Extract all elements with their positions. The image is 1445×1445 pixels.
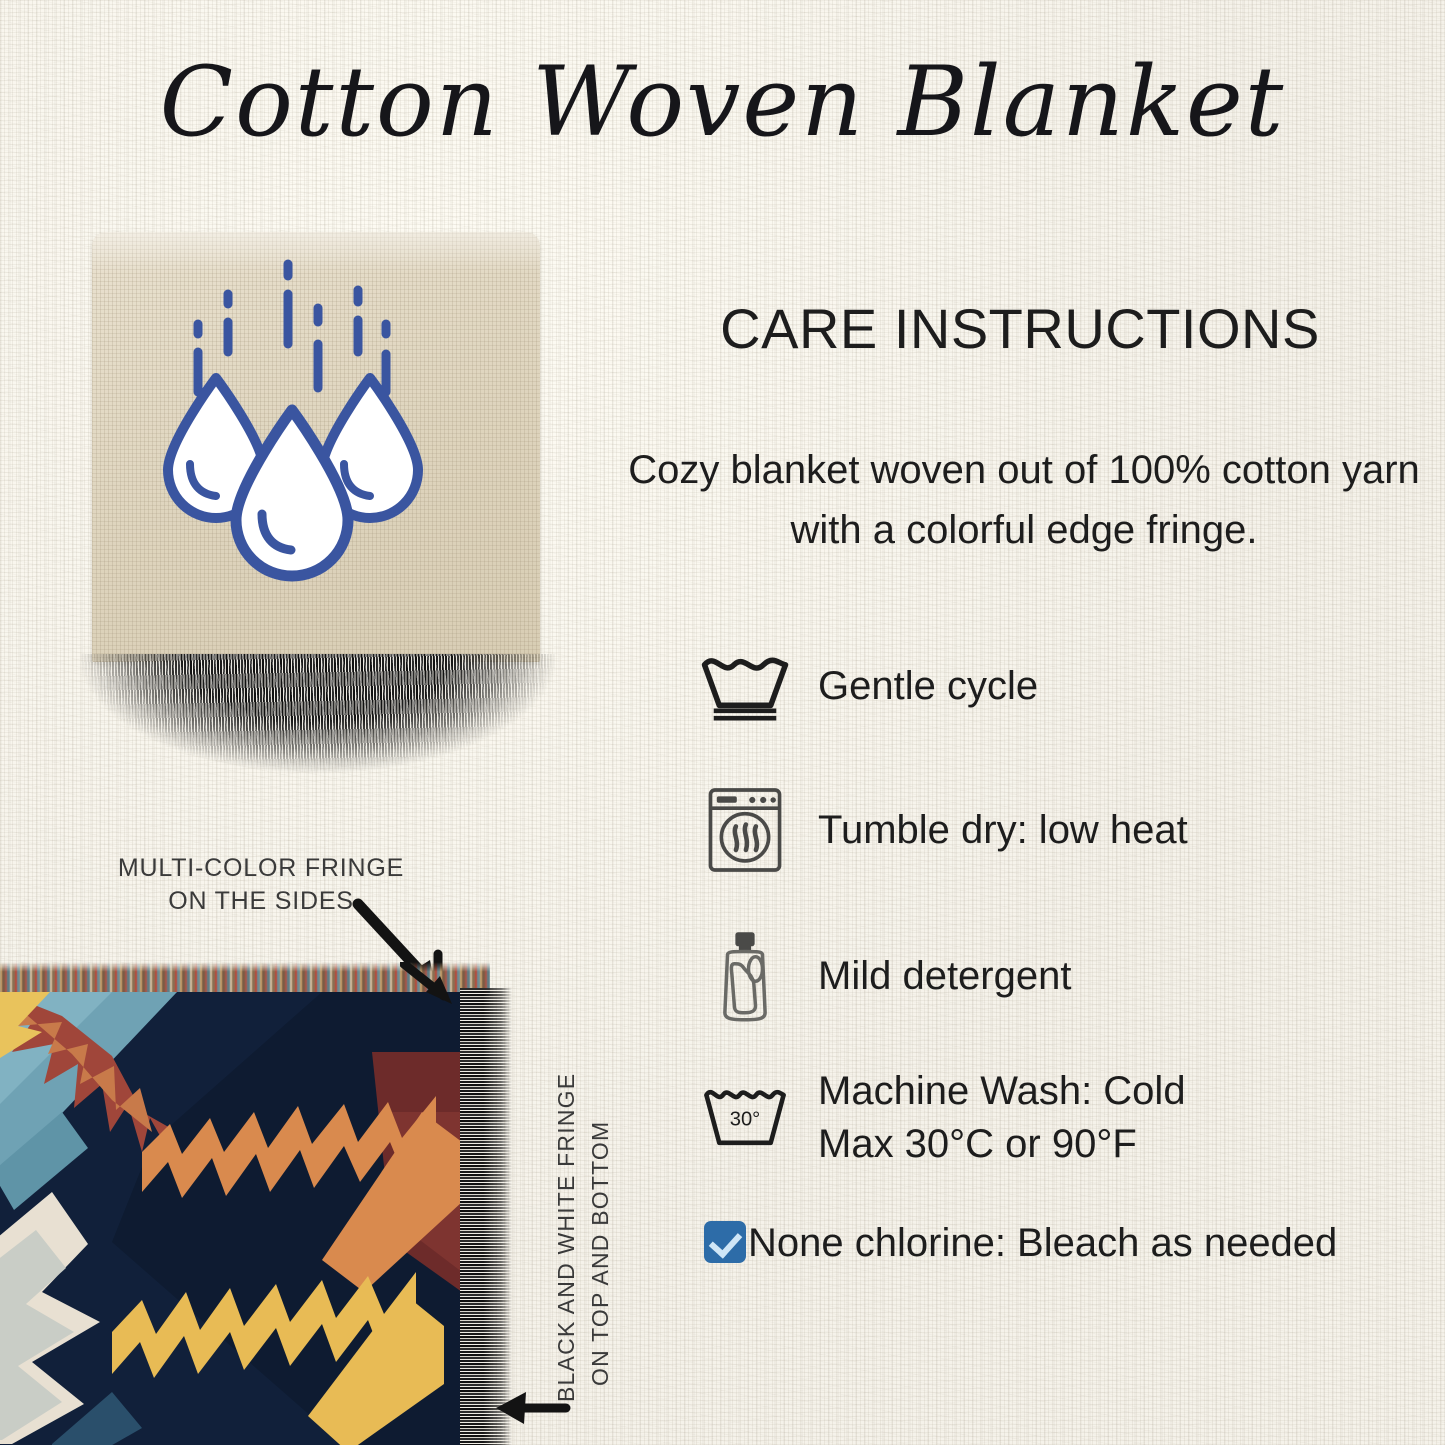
care-item-gentle-cycle: Gentle cycle <box>690 630 1390 742</box>
care-instruction-list: Gentle cycle Tumble dry: low heat <box>690 630 1390 1272</box>
annotation-bw-fringe: BLACK AND WHITE FRINGE ON TOP AND BOTTOM <box>525 1030 625 1410</box>
care-item-bleach-label: None chlorine: Bleach as needed <box>748 1221 1337 1265</box>
product-care-infographic: Cotton Woven Blanket <box>0 0 1445 1445</box>
wash-temperature-label: 30° <box>730 1108 761 1130</box>
blue-check-box-icon[interactable] <box>704 1221 746 1263</box>
care-item-label-line1: Machine Wash: Cold <box>818 1065 1186 1118</box>
care-item-label-line2: Max 30°C or 90°F <box>818 1118 1186 1171</box>
annotation-bw-line1: BLACK AND WHITE FRINGE <box>553 1073 580 1402</box>
care-item-mild-detergent: Mild detergent <box>690 920 1390 1032</box>
arrow-down-right-rug-icon <box>400 962 460 1010</box>
blanket-black-white-fringe <box>80 654 556 784</box>
blanket-product-photo <box>62 232 570 812</box>
care-item-label: Gentle cycle <box>800 660 1038 713</box>
tumble-dryer-icon <box>690 784 800 876</box>
detergent-bottle-icon <box>690 928 800 1024</box>
care-item-bleach: None chlorine: Bleach as needed <box>690 1214 1390 1272</box>
care-item-machine-wash-cold: 30° Machine Wash: Cold Max 30°C or 90°F <box>690 1062 1390 1174</box>
page-title: Cotton Woven Blanket <box>0 52 1445 153</box>
annotation-bw-line2: ON TOP AND BOTTOM <box>587 1121 614 1386</box>
care-instructions-heading: CARE INSTRUCTIONS <box>620 296 1420 361</box>
care-item-label: Mild detergent <box>800 950 1071 1003</box>
aztec-rug-photo <box>0 962 520 1445</box>
southwestern-pattern-svg <box>0 992 462 1445</box>
annotation-multicolor-line1: MULTI-COLOR FRINGE <box>96 852 426 885</box>
wash-tub-30-degrees-icon: 30° <box>690 1084 800 1152</box>
care-item-tumble-dry: Tumble dry: low heat <box>690 774 1390 886</box>
product-description: Cozy blanket woven out of 100% cotton ya… <box>628 440 1420 560</box>
care-item-label: Tumble dry: low heat <box>800 804 1188 857</box>
wash-tub-gentle-icon <box>690 650 800 722</box>
raindrop-print-icon <box>140 252 440 602</box>
rug-pattern <box>0 992 462 1445</box>
rug-black-white-fringe <box>460 988 512 1445</box>
